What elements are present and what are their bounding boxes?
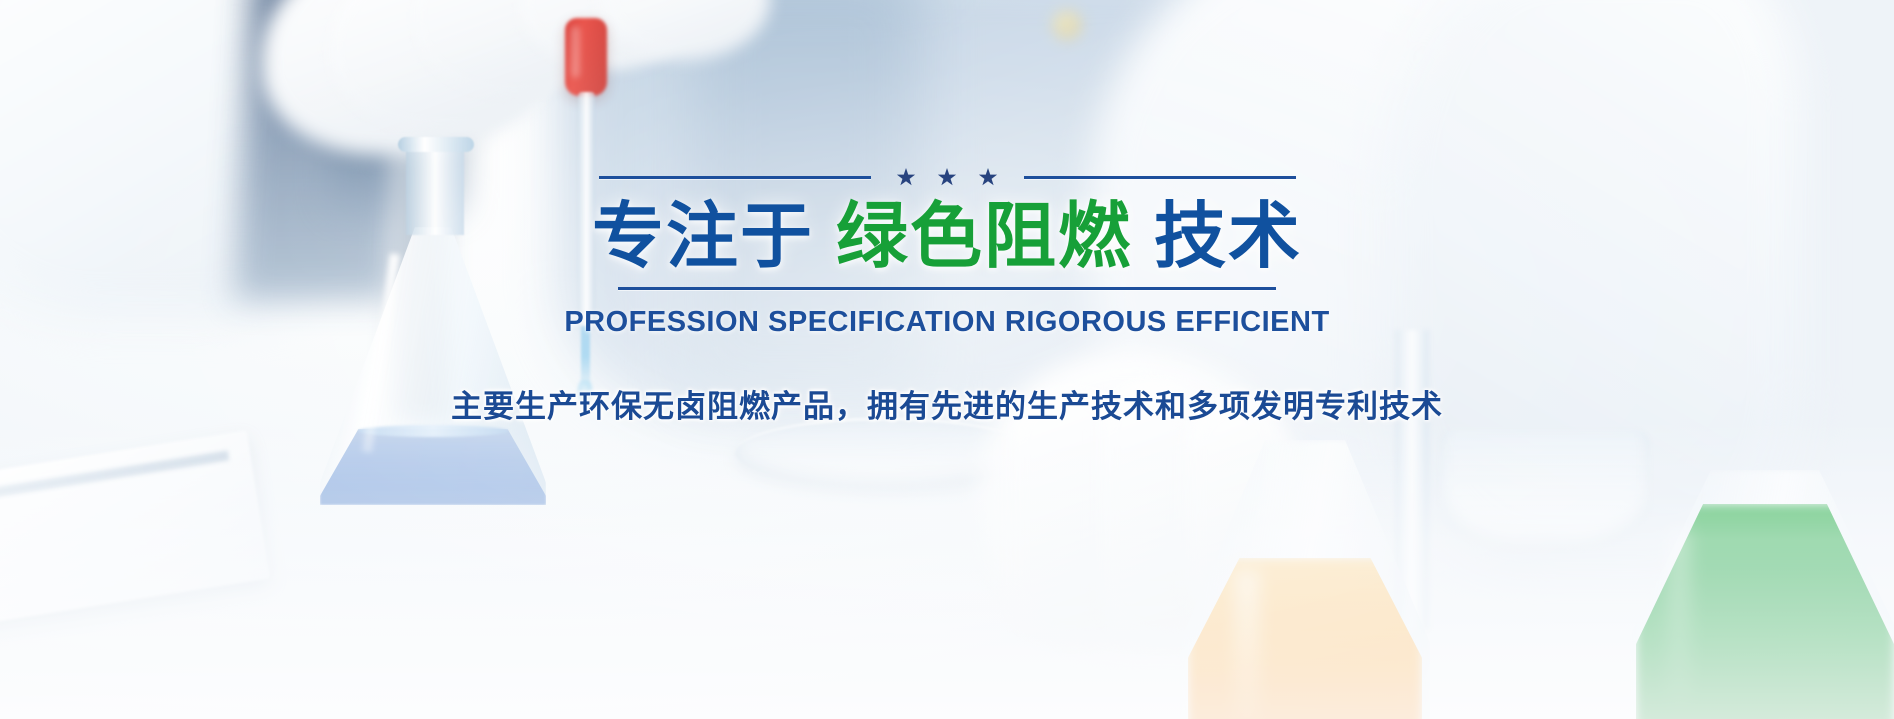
headline-part-2: 绿色阻燃	[836, 197, 1132, 277]
banner-content: 专注于绿色阻燃技术 PROFESSION SPECIFICATION RIGOR…	[0, 0, 1894, 719]
divider-line-left	[599, 176, 871, 179]
headline-part-3: 技术	[1154, 197, 1302, 277]
hero-banner: 专注于绿色阻燃技术 PROFESSION SPECIFICATION RIGOR…	[0, 0, 1894, 719]
headline-part-1: 专注于	[592, 197, 814, 277]
tagline-chinese: 主要生产环保无卤阻燃产品，拥有先进的生产技术和多项发明专利技术	[451, 381, 1443, 426]
star-group	[897, 168, 998, 187]
subtitle-english: PROFESSION SPECIFICATION RIGOROUS EFFICI…	[564, 306, 1329, 339]
title-underline	[618, 287, 1276, 290]
divider-line-right	[1024, 176, 1296, 179]
star-icon	[897, 168, 916, 187]
star-icon	[979, 168, 998, 187]
decorative-divider	[0, 168, 1894, 187]
page-title: 专注于绿色阻燃技术	[592, 199, 1302, 277]
star-icon	[938, 168, 957, 187]
